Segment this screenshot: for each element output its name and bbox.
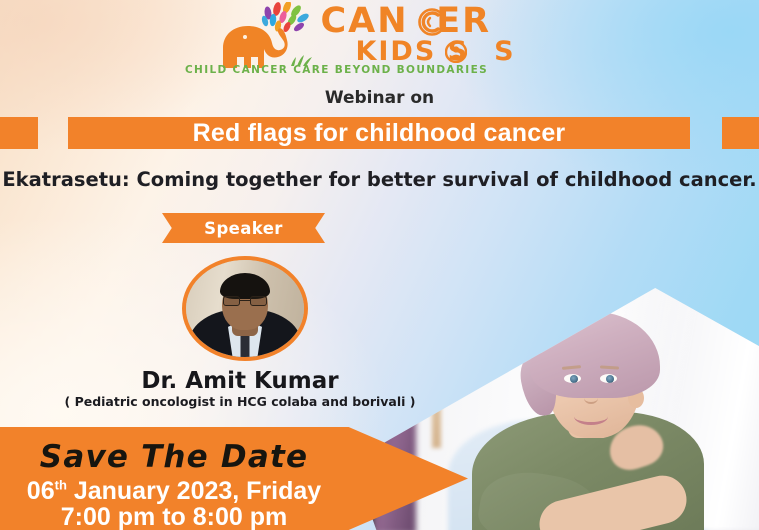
glasses-lens-left	[223, 296, 240, 306]
ribbon-c-icon	[417, 7, 447, 37]
brand-logo: CANCER KIDS SOS	[0, 2, 759, 84]
speaker-name: Dr. Amit Kumar	[0, 368, 480, 394]
photo-eye-left	[564, 374, 581, 383]
logo-wordmark-cancer: CANCER	[321, 4, 547, 38]
logo-tagline: CHILD CANCER CARE BEYOND BOUNDARIES	[127, 64, 547, 76]
portrait-glasses	[223, 296, 267, 306]
event-day: 06	[27, 477, 55, 505]
speaker-credentials: ( Pediatric oncologist in HCG colaba and…	[0, 394, 480, 409]
event-date: 06th January 2023, Friday	[0, 477, 348, 506]
page-title: Red flags for childhood cancer	[193, 119, 566, 148]
photo-eye-right	[600, 374, 617, 383]
title-bar-right-accent	[722, 117, 759, 149]
title-bar-left-accent	[0, 117, 38, 149]
event-day-suffix: th	[55, 478, 67, 493]
photo-mouth	[574, 408, 608, 425]
event-date-rest: January 2023, Friday	[67, 477, 321, 505]
save-the-date-heading: Save The Date	[0, 439, 348, 475]
glasses-lens-right	[250, 296, 267, 306]
webinar-eyebrow: Webinar on	[0, 88, 759, 108]
logo-wordmark-kids-sos: KIDS SOS	[321, 38, 547, 65]
event-time: 7:00 pm to 8:00 pm	[0, 503, 348, 530]
photo-nose	[584, 392, 598, 404]
child-head-icon	[445, 41, 467, 63]
speaker-ribbon-label: Speaker	[204, 219, 283, 238]
logo-word-can: CAN	[321, 1, 409, 41]
webinar-subtitle: Ekatrasetu: Coming together for better s…	[0, 168, 759, 191]
speaker-portrait-photo	[182, 256, 308, 361]
logo-word-s: S	[494, 36, 515, 67]
speaker-ribbon: Speaker	[162, 213, 325, 243]
glasses-bridge	[240, 300, 250, 301]
webinar-poster: CANCER KIDS SOS	[0, 0, 759, 530]
webinar-title-bar: Red flags for childhood cancer	[68, 117, 690, 149]
